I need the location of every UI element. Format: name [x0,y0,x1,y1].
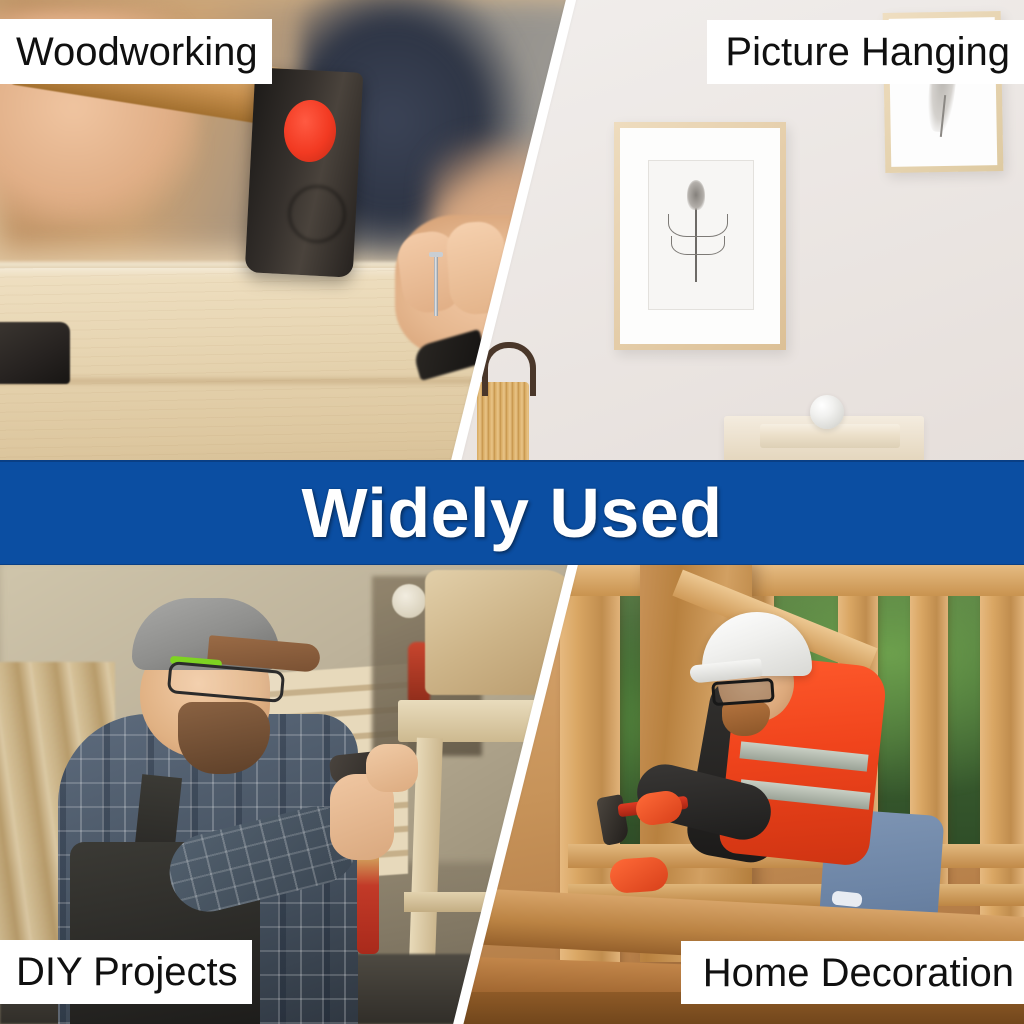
hammer-head [245,67,364,277]
sprig-flower-icon [687,180,705,210]
work-glove [609,856,669,894]
tape-roll-icon [392,584,426,618]
jeans-rip-detail [831,890,862,907]
widely-used-banner: Widely Used [0,460,1024,565]
dark-tool-block [0,322,70,384]
top-plate-beam [558,562,1024,596]
caption-picture-hanging: Picture Hanging [707,20,1024,84]
eyeglasses [711,678,775,706]
banner-title: Widely Used [301,478,722,548]
carpenter-hand-upper [366,744,418,792]
nail [434,254,438,316]
caption-woodworking: Woodworking [0,19,272,84]
hammer-face-detail [288,185,346,243]
caption-diy-projects: DIY Projects [0,940,252,1004]
product-feature-collage: Widely Used Woodworking Picture Hanging … [0,0,1024,1024]
glass-ball-ornament [810,395,844,429]
caption-home-decoration: Home Decoration [681,941,1024,1004]
basket-handle [482,342,536,396]
nail-head [429,252,443,257]
